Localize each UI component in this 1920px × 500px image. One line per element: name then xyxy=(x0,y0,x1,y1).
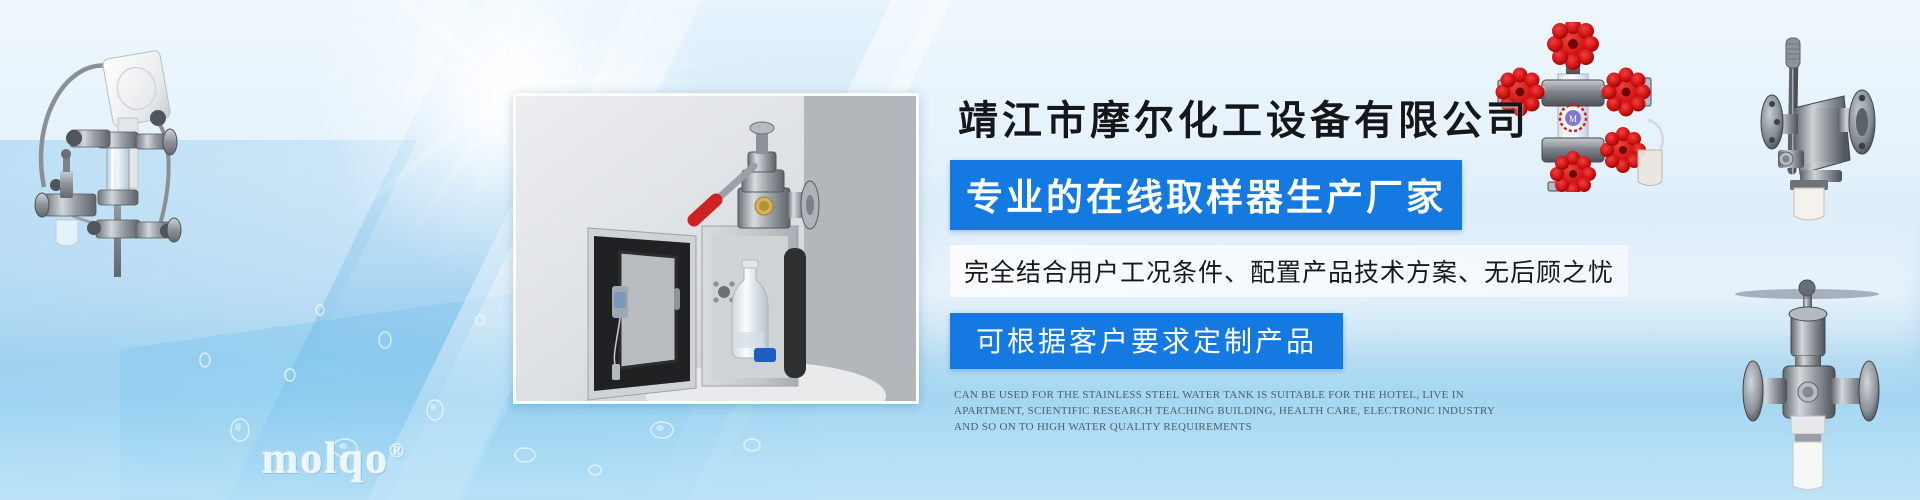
sun-ray xyxy=(313,8,511,92)
promotional-banner: M xyxy=(0,0,1920,500)
tagline-badge: 可根据客户要求定制产品 xyxy=(950,313,1343,369)
product-photo xyxy=(513,93,919,404)
flanged-gate-sampling-valve-icon xyxy=(1725,270,1920,500)
watermark-text: molqo xyxy=(262,434,389,483)
flanged-lever-sampling-valve-icon xyxy=(1742,22,1917,222)
watermark: molqo® xyxy=(262,433,406,484)
subheadline: 完全结合用户工况条件、配置产品技术方案、无后顾之忧 xyxy=(950,245,1628,297)
sun-ray xyxy=(430,0,512,91)
sun-ray xyxy=(379,88,510,140)
registered-mark-icon: ® xyxy=(389,440,406,462)
sun-ray xyxy=(335,81,510,92)
stainless-steel-sampling-assembly-icon xyxy=(8,22,186,277)
sun-ray xyxy=(508,0,570,91)
sun-ray xyxy=(508,90,513,210)
sun-ray xyxy=(399,89,512,253)
sun-ray xyxy=(508,0,632,92)
headline: 专业的在线取样器生产厂家 xyxy=(950,160,1462,230)
sun-ray xyxy=(326,88,511,234)
sun-ray xyxy=(467,0,512,91)
english-description: CAN BE USED FOR THE STAINLESS STEEL WATE… xyxy=(954,387,1510,435)
sun-ray xyxy=(510,53,756,92)
sun-ray xyxy=(459,89,512,240)
banner-text-block: 靖江市摩尔化工设备有限公司 专业的在线取样器生产厂家 完全结合用户工况条件、配置… xyxy=(950,88,1720,435)
sun-ray xyxy=(318,0,512,92)
company-name: 靖江市摩尔化工设备有限公司 xyxy=(958,88,1720,146)
sun-ray xyxy=(508,0,537,90)
sun-ray xyxy=(509,0,698,92)
